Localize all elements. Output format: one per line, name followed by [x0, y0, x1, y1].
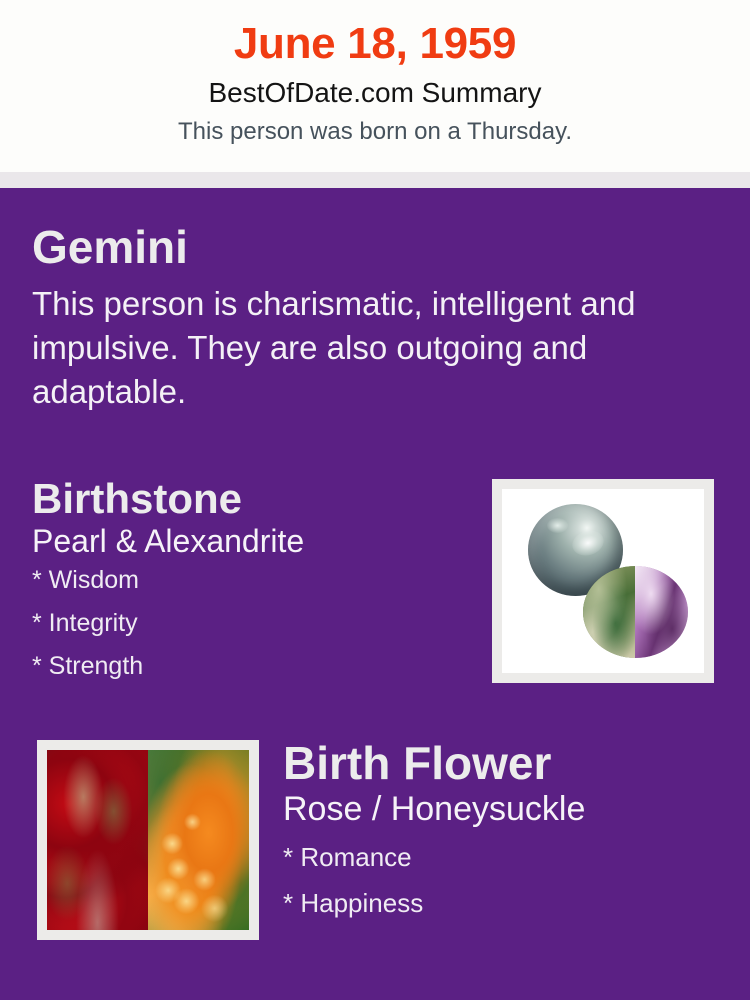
zodiac-section: Gemini This person is charismatic, intel… [32, 224, 718, 414]
list-item: * Happiness [283, 890, 733, 916]
birthstone-section: Birthstone Pearl & Alexandrite * Wisdom … [32, 478, 472, 697]
list-item: * Integrity [32, 611, 472, 636]
zodiac-description: This person is charismatic, intelligent … [32, 282, 702, 414]
birth-flower-section: Birth Flower Rose / Honeysuckle * Romanc… [283, 740, 733, 936]
weekday-statement: This person was born on a Thursday. [0, 116, 750, 147]
rose-photo-icon [47, 750, 148, 930]
birth-flower-image-frame [37, 740, 259, 940]
birth-flower-image [47, 750, 249, 930]
birthstone-image [502, 489, 704, 673]
summary-card: June 18, 1959 BestOfDate.com Summary Thi… [0, 0, 750, 1000]
page-title: June 18, 1959 [0, 18, 750, 70]
birthstone-image-frame [492, 479, 714, 683]
birth-flower-trait-list: * Romance * Happiness [283, 844, 733, 916]
birthstone-trait-list: * Wisdom * Integrity * Strength [32, 568, 472, 679]
header-divider [0, 172, 750, 188]
list-item: * Strength [32, 654, 472, 679]
list-item: * Romance [283, 844, 733, 870]
birth-flower-title: Birth Flower [283, 740, 733, 786]
honeysuckle-photo-icon [148, 750, 249, 930]
list-item: * Wisdom [32, 568, 472, 593]
birthstone-value: Pearl & Alexandrite [32, 524, 472, 560]
site-summary-label: BestOfDate.com Summary [0, 74, 750, 112]
alexandrite-gem-icon [583, 566, 688, 658]
pearl-highlight-icon [547, 518, 568, 533]
birth-flower-value: Rose / Honeysuckle [283, 790, 733, 828]
zodiac-sign-name: Gemini [32, 224, 718, 270]
birthstone-title: Birthstone [32, 478, 472, 520]
card-header: June 18, 1959 BestOfDate.com Summary Thi… [0, 0, 750, 172]
